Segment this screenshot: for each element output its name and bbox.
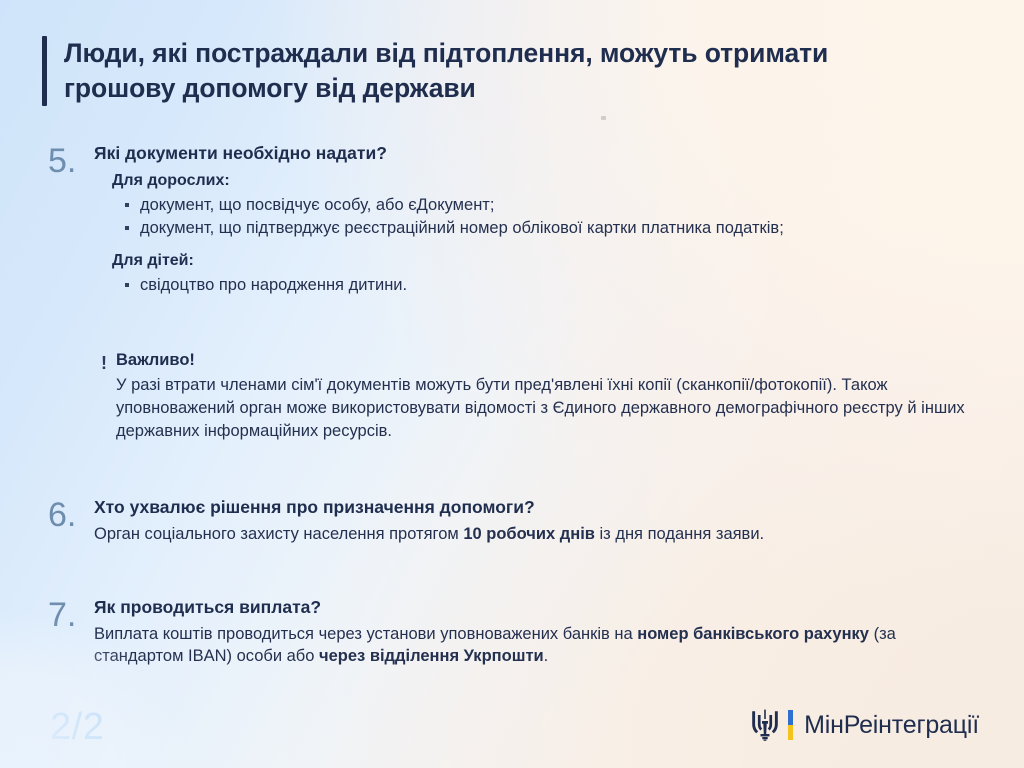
ministry-logo: МінРеінтеграції [751, 709, 979, 741]
section-5-question: Які документи необхідно надати? [94, 142, 948, 165]
section-7-number: 7. [48, 596, 94, 632]
ukraine-flag-bar-icon [788, 710, 793, 740]
slide-canvas: Люди, які постраждали від підтоплення, м… [0, 0, 1024, 768]
ministry-name: МінРеінтеграції [804, 713, 979, 738]
section-7-answer: Виплата коштів проводиться через установ… [94, 623, 968, 668]
section-6-question: Хто ухвалює рішення про призначення допо… [94, 496, 948, 519]
section-6-body: Хто ухвалює рішення про призначення допо… [94, 496, 948, 545]
section-5: 5. Які документи необхідно надати? Для д… [48, 142, 948, 297]
important-callout: ! Важливо! У разі втрати членами сім'ї д… [96, 350, 976, 443]
page-indicator: 2/2 [50, 708, 104, 746]
ukraine-trident-icon [751, 709, 779, 741]
section-7-question: Як проводиться виплата? [94, 596, 968, 619]
important-body: Важливо! У разі втрати членами сім'ї док… [116, 350, 976, 443]
section-5-group-1-label: Для дітей: [112, 251, 948, 272]
section-5-group-0-label: Для дорослих: [112, 171, 948, 192]
section-5-number: 5. [48, 142, 94, 178]
section-6-number: 6. [48, 496, 94, 532]
important-title: Важливо! [116, 350, 976, 371]
section-5-group-1-list: свідоцтво про народження дитини. [124, 274, 948, 296]
list-item: документ, що посвідчує особу, або єДокум… [124, 194, 948, 216]
title-accent-bar [42, 36, 47, 106]
important-text: У разі втрати членами сім'ї документів м… [116, 374, 976, 442]
section-5-group-0-list: документ, що посвідчує особу, або єДокум… [124, 194, 948, 239]
section-7-body: Як проводиться виплата? Виплата коштів п… [94, 596, 968, 668]
section-6: 6. Хто ухвалює рішення про призначення д… [48, 496, 948, 545]
artifact-speck [601, 116, 606, 120]
section-5-body: Які документи необхідно надати? Для доро… [94, 142, 948, 297]
section-7: 7. Як проводиться виплата? Виплата кошті… [48, 596, 968, 668]
section-6-answer: Орган соціального захисту населення прот… [94, 523, 948, 545]
exclamation-mark-icon: ! [96, 350, 112, 375]
slide-title-block: Люди, які постраждали від підтоплення, м… [42, 36, 884, 106]
list-item: свідоцтво про народження дитини. [124, 274, 948, 296]
page-title: Люди, які постраждали від підтоплення, м… [64, 36, 884, 106]
list-item: документ, що підтверджує реєстраційний н… [124, 217, 948, 239]
